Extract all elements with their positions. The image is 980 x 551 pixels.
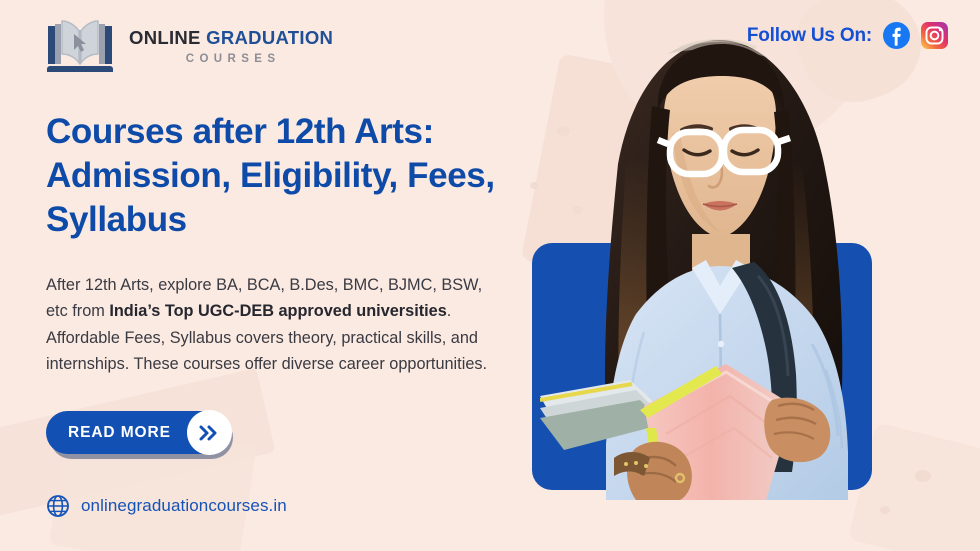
page-title: Courses after 12th Arts: Admission, Elig…	[46, 110, 516, 242]
site-logo[interactable]: ONLINE GRADUATION COURSES	[44, 16, 333, 76]
photo-clip	[500, 0, 980, 500]
globe-icon	[46, 494, 70, 518]
website-url-text: onlinegraduationcourses.in	[81, 496, 287, 516]
logo-wordmark: ONLINE GRADUATION COURSES	[129, 27, 333, 66]
student-photo	[540, 14, 900, 500]
chevron-circle	[187, 410, 232, 455]
logo-word-online: ONLINE	[129, 27, 201, 48]
logo-subtitle: COURSES	[129, 54, 333, 66]
body-paragraph: After 12th Arts, explore BA, BCA, B.Des,…	[46, 272, 496, 378]
read-more-button[interactable]: READ MORE	[46, 411, 229, 454]
read-more-label: READ MORE	[68, 424, 171, 442]
hero-image-zone	[500, 0, 980, 551]
website-url[interactable]: onlinegraduationcourses.in	[46, 494, 287, 518]
logo-word-graduation: GRADUATION	[206, 27, 333, 48]
open-book-with-cursor-icon	[44, 16, 116, 76]
double-chevron-right-icon	[198, 424, 220, 442]
body-bold-phrase: India’s Top UGC-DEB approved universitie…	[109, 302, 446, 320]
